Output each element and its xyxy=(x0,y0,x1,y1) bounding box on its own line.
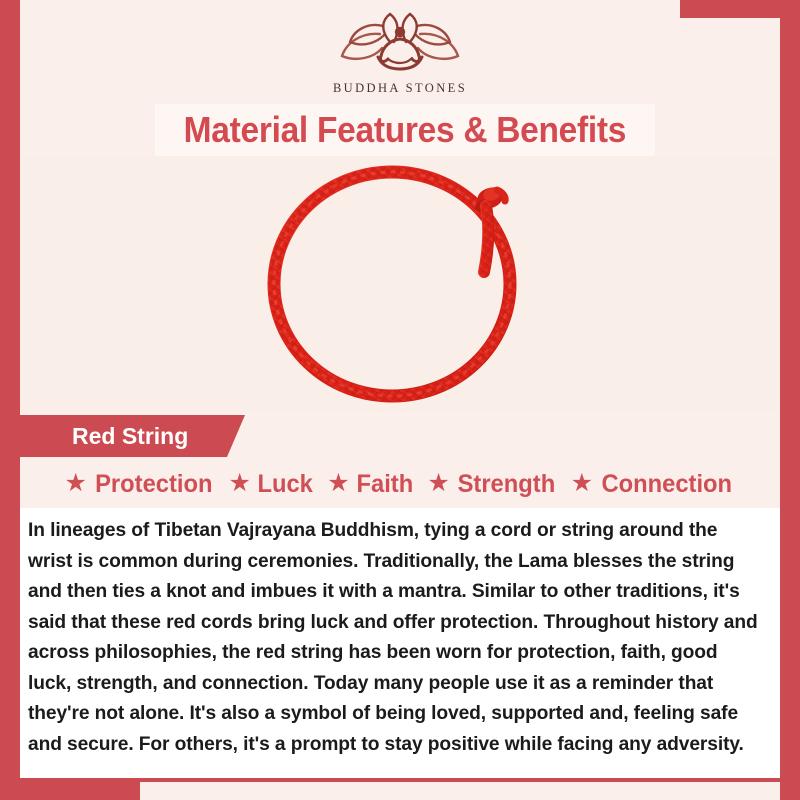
frame-bar-right xyxy=(780,0,800,800)
benefit-label: Connection xyxy=(601,470,732,499)
benefit-item: ★ Luck xyxy=(224,470,320,499)
benefit-item: ★ Protection xyxy=(59,470,220,499)
page-title: Material Features & Benefits xyxy=(184,109,626,151)
star-icon: ★ xyxy=(571,471,593,496)
star-icon: ★ xyxy=(327,471,349,496)
lotus-meditation-icon xyxy=(320,12,480,79)
benefit-item: ★ Faith xyxy=(322,470,419,499)
product-image xyxy=(20,156,780,412)
brand-logo: BUDDHA STONES xyxy=(0,12,800,98)
benefit-item: ★ Connection xyxy=(566,470,741,499)
star-icon: ★ xyxy=(427,471,449,496)
star-icon: ★ xyxy=(64,471,86,496)
material-label: Red String xyxy=(72,423,188,450)
benefit-item: ★ Strength xyxy=(422,470,562,499)
description-text: In lineages of Tibetan Vajrayana Buddhis… xyxy=(28,516,762,760)
star-icon: ★ xyxy=(229,471,251,496)
benefit-label: Strength xyxy=(457,470,555,499)
title-band: Material Features & Benefits xyxy=(155,104,655,156)
red-string-bracelet-photo xyxy=(240,156,560,412)
benefits-list: ★ Protection ★ Luck ★ Faith ★ Strength ★… xyxy=(20,464,780,504)
brand-name: BUDDHA STONES xyxy=(333,81,467,96)
frame-bar-bottom xyxy=(0,782,140,800)
product-infographic: BUDDHA STONES Material Features & Benefi… xyxy=(0,0,800,800)
material-label-banner: Red String xyxy=(20,415,245,457)
frame-bottom-rule xyxy=(20,778,780,782)
description-panel: In lineages of Tibetan Vajrayana Buddhis… xyxy=(20,508,780,778)
benefit-label: Faith xyxy=(356,470,413,499)
frame-bar-left xyxy=(0,0,20,800)
benefit-label: Luck xyxy=(257,470,312,499)
benefit-label: Protection xyxy=(95,470,212,499)
